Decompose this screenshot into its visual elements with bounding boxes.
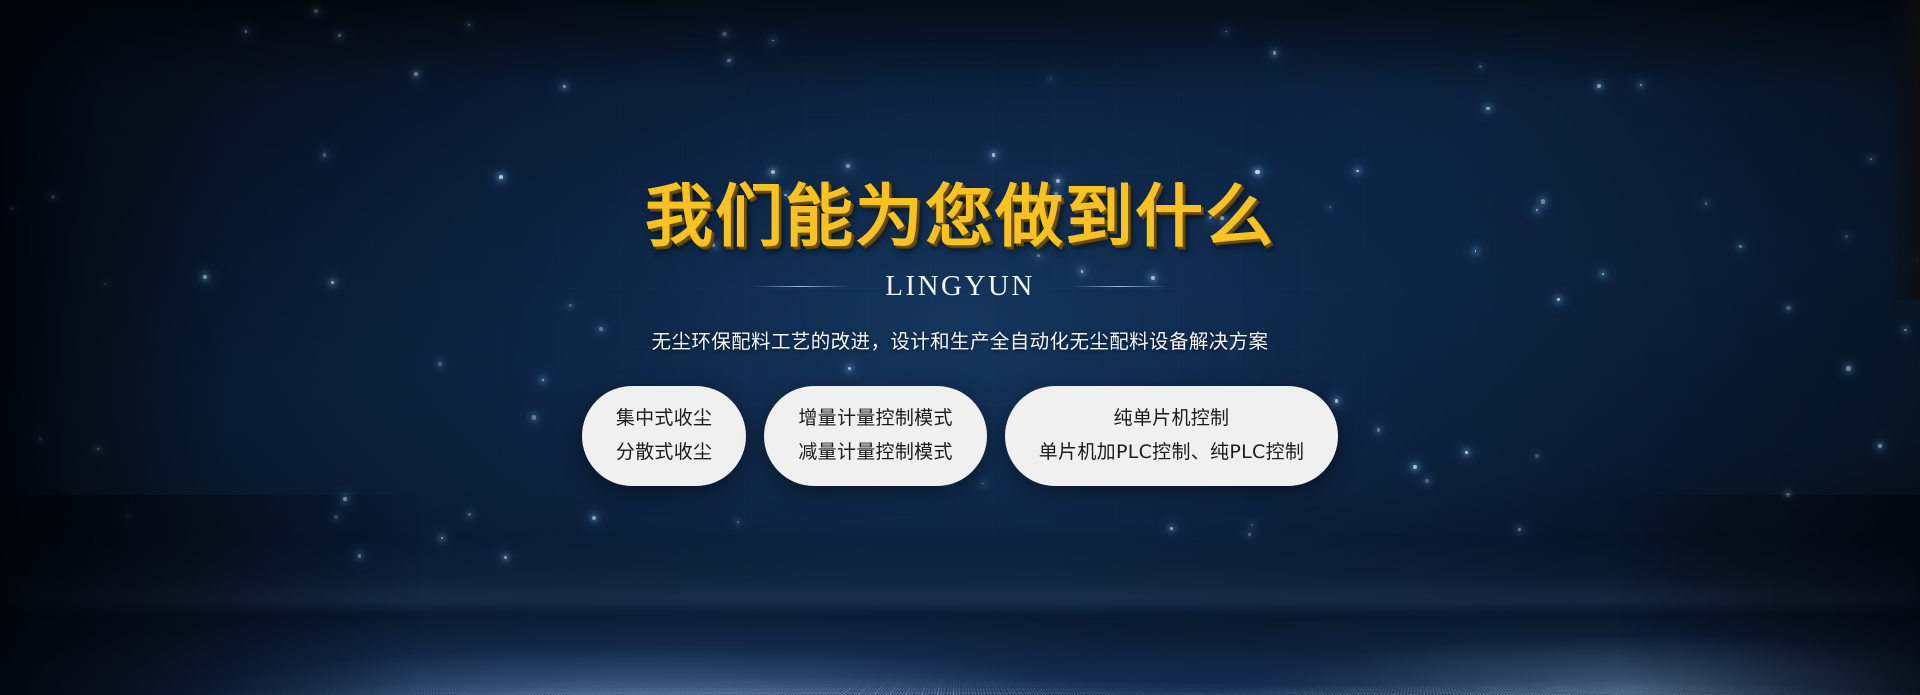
banner-description: 无尘环保配料工艺的改进，设计和生产全自动化无尘配料设备解决方案 [652, 325, 1269, 354]
banner-headline: 我们能为您做到什么 [645, 184, 1275, 252]
card-line-2: 单片机加PLC控制、纯PLC控制 [1039, 442, 1304, 464]
feature-card-dust-collection[interactable]: 集中式收尘 分散式收尘 [582, 386, 747, 486]
feature-card-metering-mode[interactable]: 增量计量控制模式 减量计量控制模式 [764, 386, 986, 486]
brand-subtitle-row: LINGYUN [755, 270, 1165, 303]
feature-card-list: 集中式收尘 分散式收尘 增量计量控制模式 减量计量控制模式 纯单片机控制 单片机… [582, 386, 1338, 486]
card-line-2: 减量计量控制模式 [798, 442, 952, 464]
card-line-2: 分散式收尘 [616, 442, 713, 464]
right-rule-decoration [1073, 286, 1165, 287]
feature-card-control-system[interactable]: 纯单片机控制 单片机加PLC控制、纯PLC控制 [1005, 386, 1338, 486]
left-rule-decoration [755, 286, 847, 287]
banner-content: 我们能为您做到什么 LINGYUN 无尘环保配料工艺的改进，设计和生产全自动化无… [0, 0, 1920, 695]
card-line-1: 集中式收尘 [616, 408, 713, 430]
hero-banner: 我们能为您做到什么 LINGYUN 无尘环保配料工艺的改进，设计和生产全自动化无… [0, 0, 1920, 695]
brand-name-en: LINGYUN [885, 270, 1035, 303]
card-line-1: 增量计量控制模式 [798, 408, 952, 430]
card-line-1: 纯单片机控制 [1114, 408, 1230, 430]
